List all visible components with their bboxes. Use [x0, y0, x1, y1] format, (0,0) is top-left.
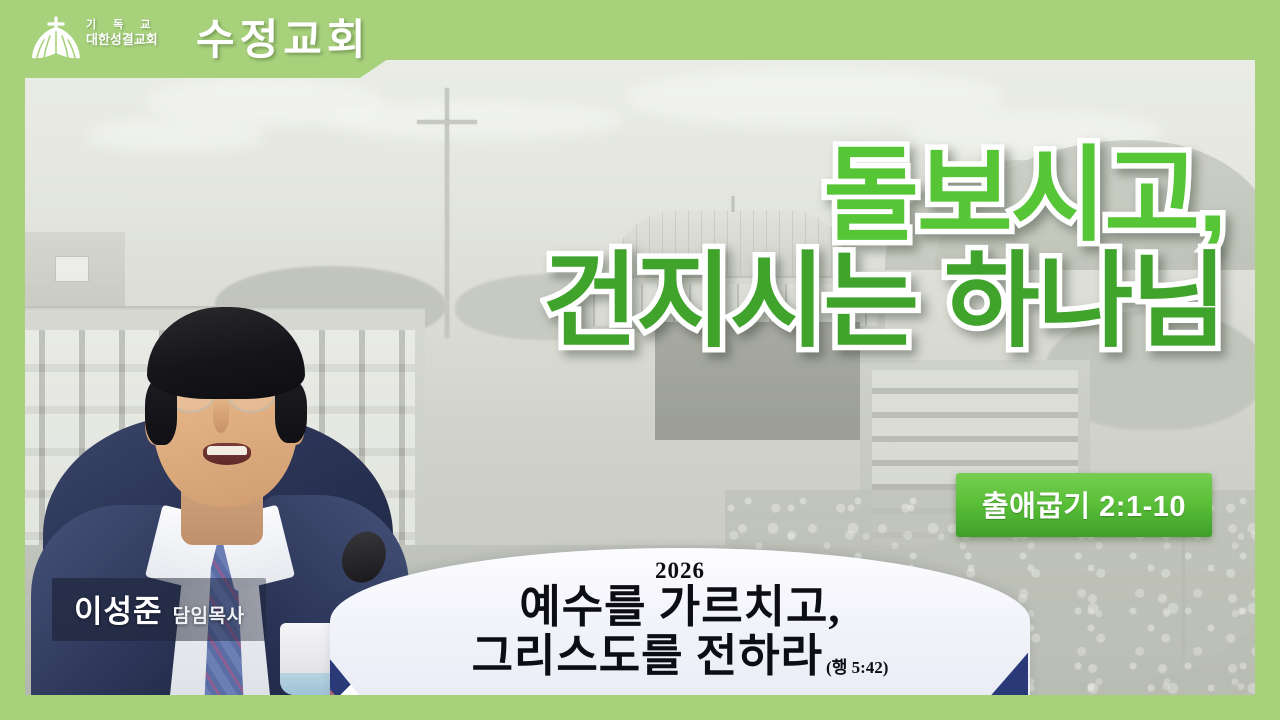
frame-border-right: [1255, 0, 1280, 720]
sermon-title: 돌보시고, 건지시는 하나님: [542, 140, 1225, 358]
denomination-text: 기 독 교 대한성결교회: [86, 18, 198, 48]
church-name: 수정교회: [196, 6, 371, 67]
speaker-nameplate: 이성준 담임목사: [52, 578, 266, 641]
sermon-title-slide: 2026 예수를 가르치고, 그리스도를 전하라 (행 5:42) 돌보시고, …: [0, 0, 1280, 720]
sermon-title-line2: 건지시는 하나님: [542, 246, 1225, 358]
speaker-role: 담임목사: [173, 601, 245, 628]
speaker-name: 이성준: [74, 586, 163, 631]
denomination-line2: 대한성결교회: [86, 32, 198, 48]
nose: [213, 399, 229, 433]
denomination-line1: 기 독 교: [86, 18, 198, 32]
frame-border-left: [0, 0, 25, 720]
hair: [147, 307, 305, 399]
pulpit-scripture-reference: (행 5:42): [823, 655, 888, 681]
pulpit-year: 2026: [655, 558, 705, 583]
pulpit-slogan-line2: 그리스도를 전하라: [472, 632, 823, 681]
teeth: [207, 446, 247, 455]
frame-border-bottom: [0, 695, 1280, 720]
scripture-badge: 출애굽기 2:1-10: [956, 473, 1212, 537]
pulpit-slogan-line2-row: 그리스도를 전하라 (행 5:42): [472, 632, 889, 681]
sermon-title-line1: 돌보시고,: [542, 140, 1225, 252]
pulpit-slogan-line1: 예수를 가르치고,: [519, 583, 840, 632]
church-logo-icon: [28, 14, 84, 66]
